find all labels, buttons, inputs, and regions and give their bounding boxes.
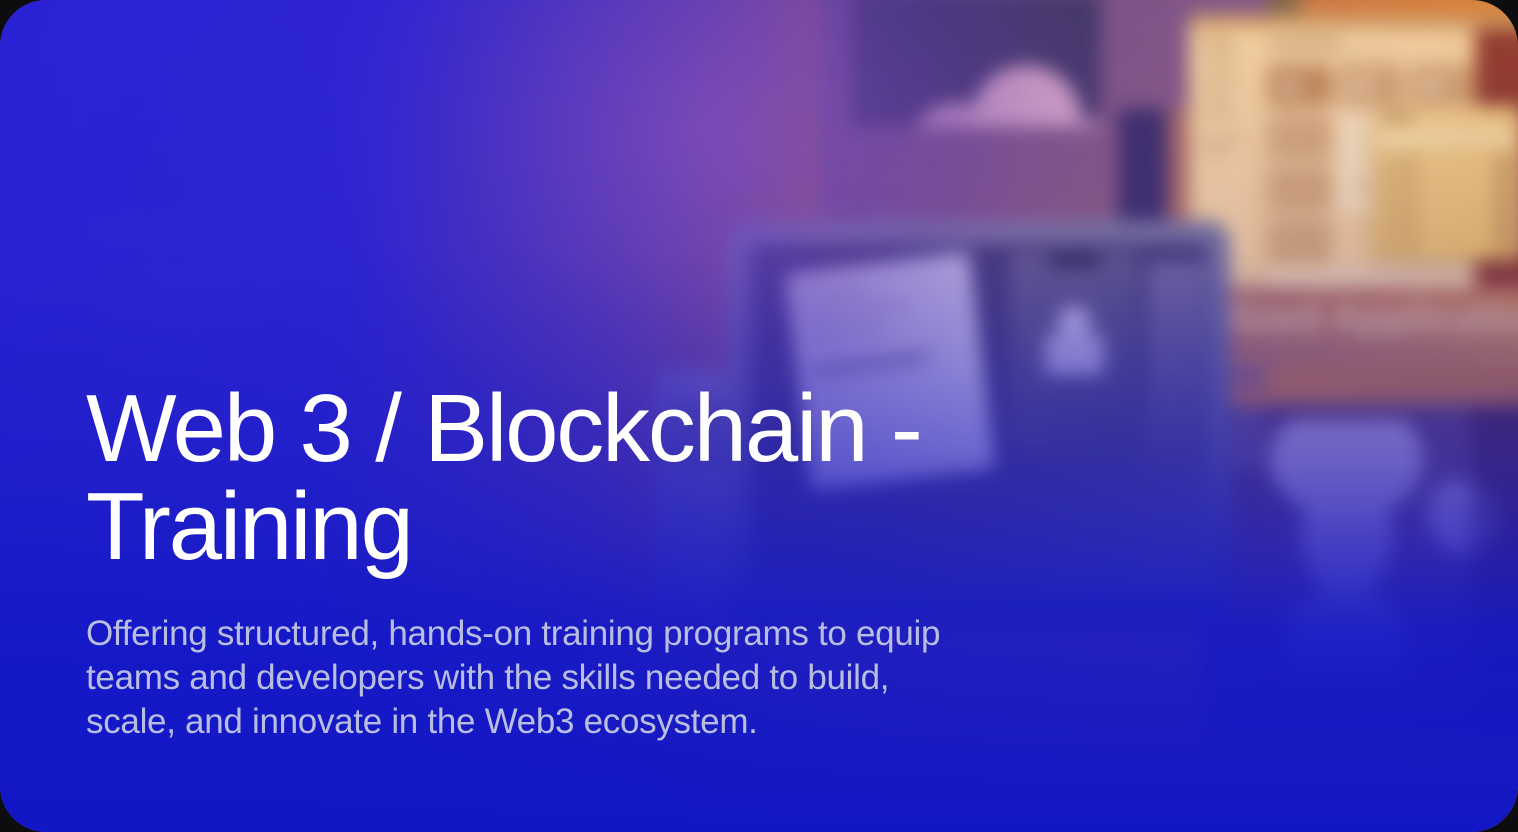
page-title: Web 3 / Blockchain - Training [86,380,1086,576]
hero-content: Web 3 / Blockchain - Training Offering s… [86,380,1086,744]
hero-card: IntroductionBlockchain T alized Applicat… [0,0,1518,832]
hero-description: Offering structured, hands-on training p… [86,612,1086,744]
